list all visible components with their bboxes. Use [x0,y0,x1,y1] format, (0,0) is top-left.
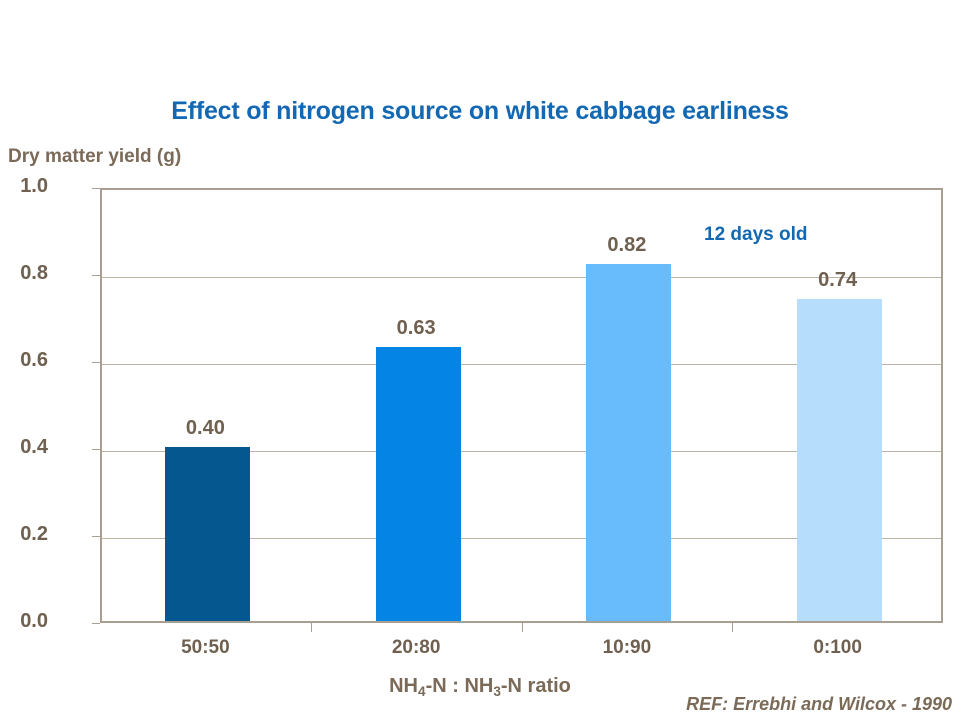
chart-title: Effect of nitrogen source on white cabba… [0,97,960,126]
annotation-days-old: 12 days old [704,224,808,246]
x-axis-title-mid: -N : NH [426,675,494,697]
x-tick-mark [311,623,312,632]
bar-20-80[interactable] [376,347,461,621]
gridline [102,277,941,278]
y-tick-label: 0.2 [0,523,48,546]
y-tick-mark [92,362,100,363]
reference-note: REF: Errebhi and Wilcox - 1990 [686,694,952,715]
x-tick-mark [732,623,733,632]
bar-50-50[interactable] [165,447,250,621]
x-tick-label-20-80: 20:80 [392,637,441,659]
y-tick-label: 0.6 [0,349,48,372]
bar-10-90[interactable] [586,264,671,621]
y-tick-label: 0.8 [0,262,48,285]
y-tick-mark [92,449,100,450]
x-axis-title-sub-3: 3 [493,684,501,699]
y-tick-mark [92,275,100,276]
y-tick-label: 0.4 [0,436,48,459]
bar-0-100[interactable] [797,299,882,621]
x-tick-label-10-90: 10:90 [603,637,652,659]
x-axis-title-pre: NH [389,675,418,697]
x-tick-label-50-50: 50:50 [181,637,230,659]
data-label-50-50: 0.40 [186,417,225,440]
x-axis-title-sub-4: 4 [418,684,426,699]
y-tick-label: 0.0 [0,610,48,633]
x-tick-label-0-100: 0:100 [813,637,862,659]
y-axis-title: Dry matter yield (g) [8,146,181,168]
y-tick-mark [92,188,100,189]
y-tick-mark [92,536,100,537]
data-label-10-90: 0.82 [607,234,646,257]
x-tick-mark [522,623,523,632]
y-tick-mark [92,623,100,624]
y-tick-label: 1.0 [0,175,48,198]
data-label-0-100: 0.74 [818,269,857,292]
data-label-20-80: 0.63 [397,317,436,340]
plot-area [100,188,943,623]
x-axis-title-post: -N ratio [501,675,571,697]
